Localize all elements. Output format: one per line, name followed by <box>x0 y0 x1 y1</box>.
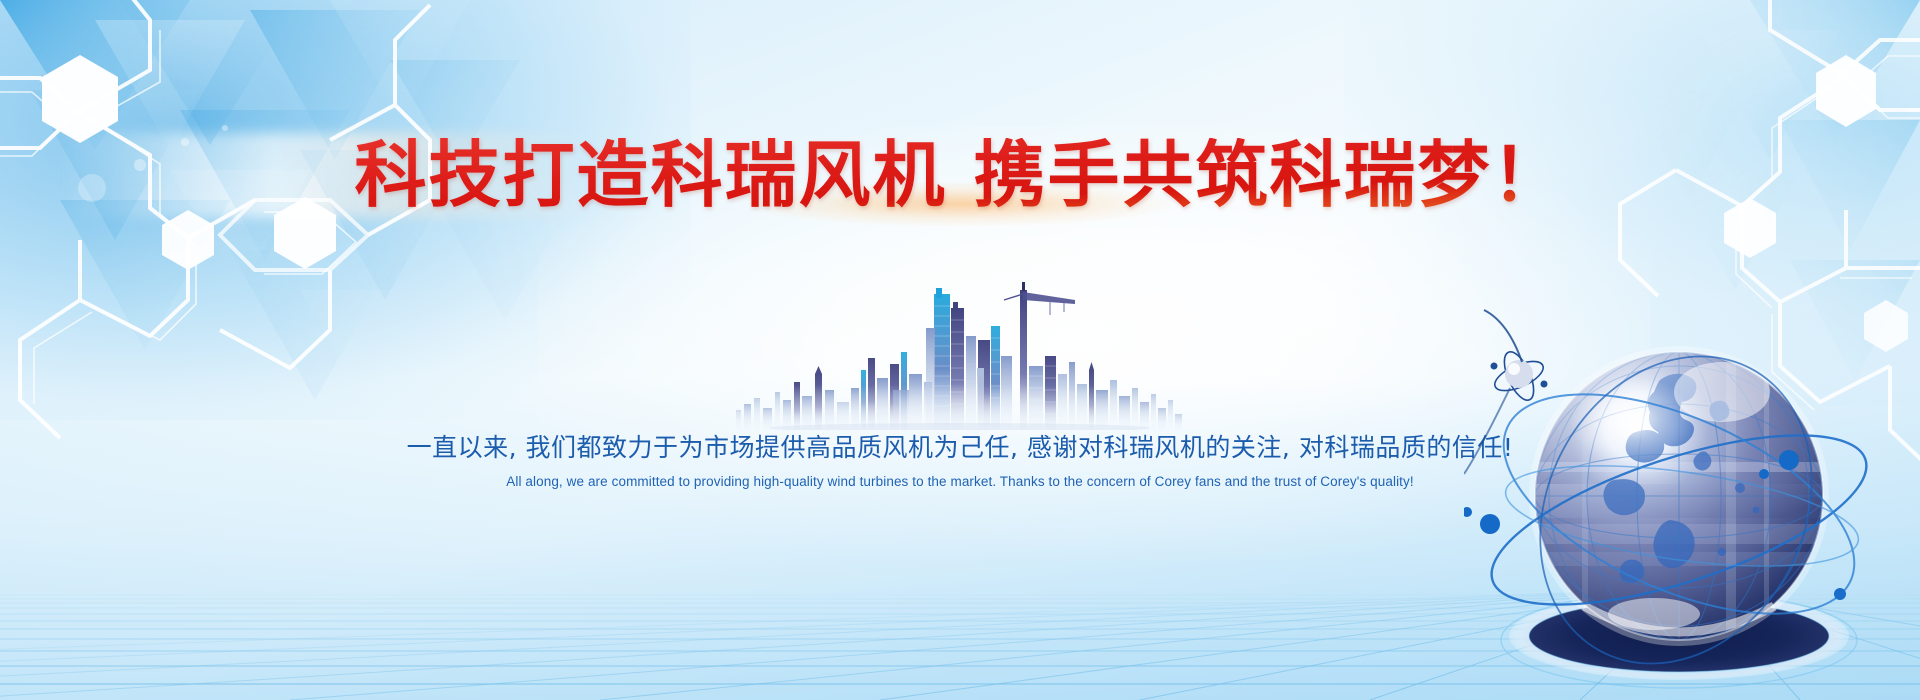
headline-container: 科技打造科瑞风机 携手共筑科瑞梦！ <box>0 138 1920 214</box>
globe-sphere <box>1524 346 1844 646</box>
skyline-buildings <box>736 282 1182 430</box>
promo-banner: 科技打造科瑞风机 携手共筑科瑞梦！ <box>0 0 1920 700</box>
city-skyline-icon <box>730 270 1190 430</box>
satellite-atom-icon <box>1464 310 1548 474</box>
globe-graphic <box>1464 284 1894 700</box>
left-tech-pattern <box>0 0 760 470</box>
page-title: 科技打造科瑞风机 携手共筑科瑞梦！ <box>354 138 1565 214</box>
